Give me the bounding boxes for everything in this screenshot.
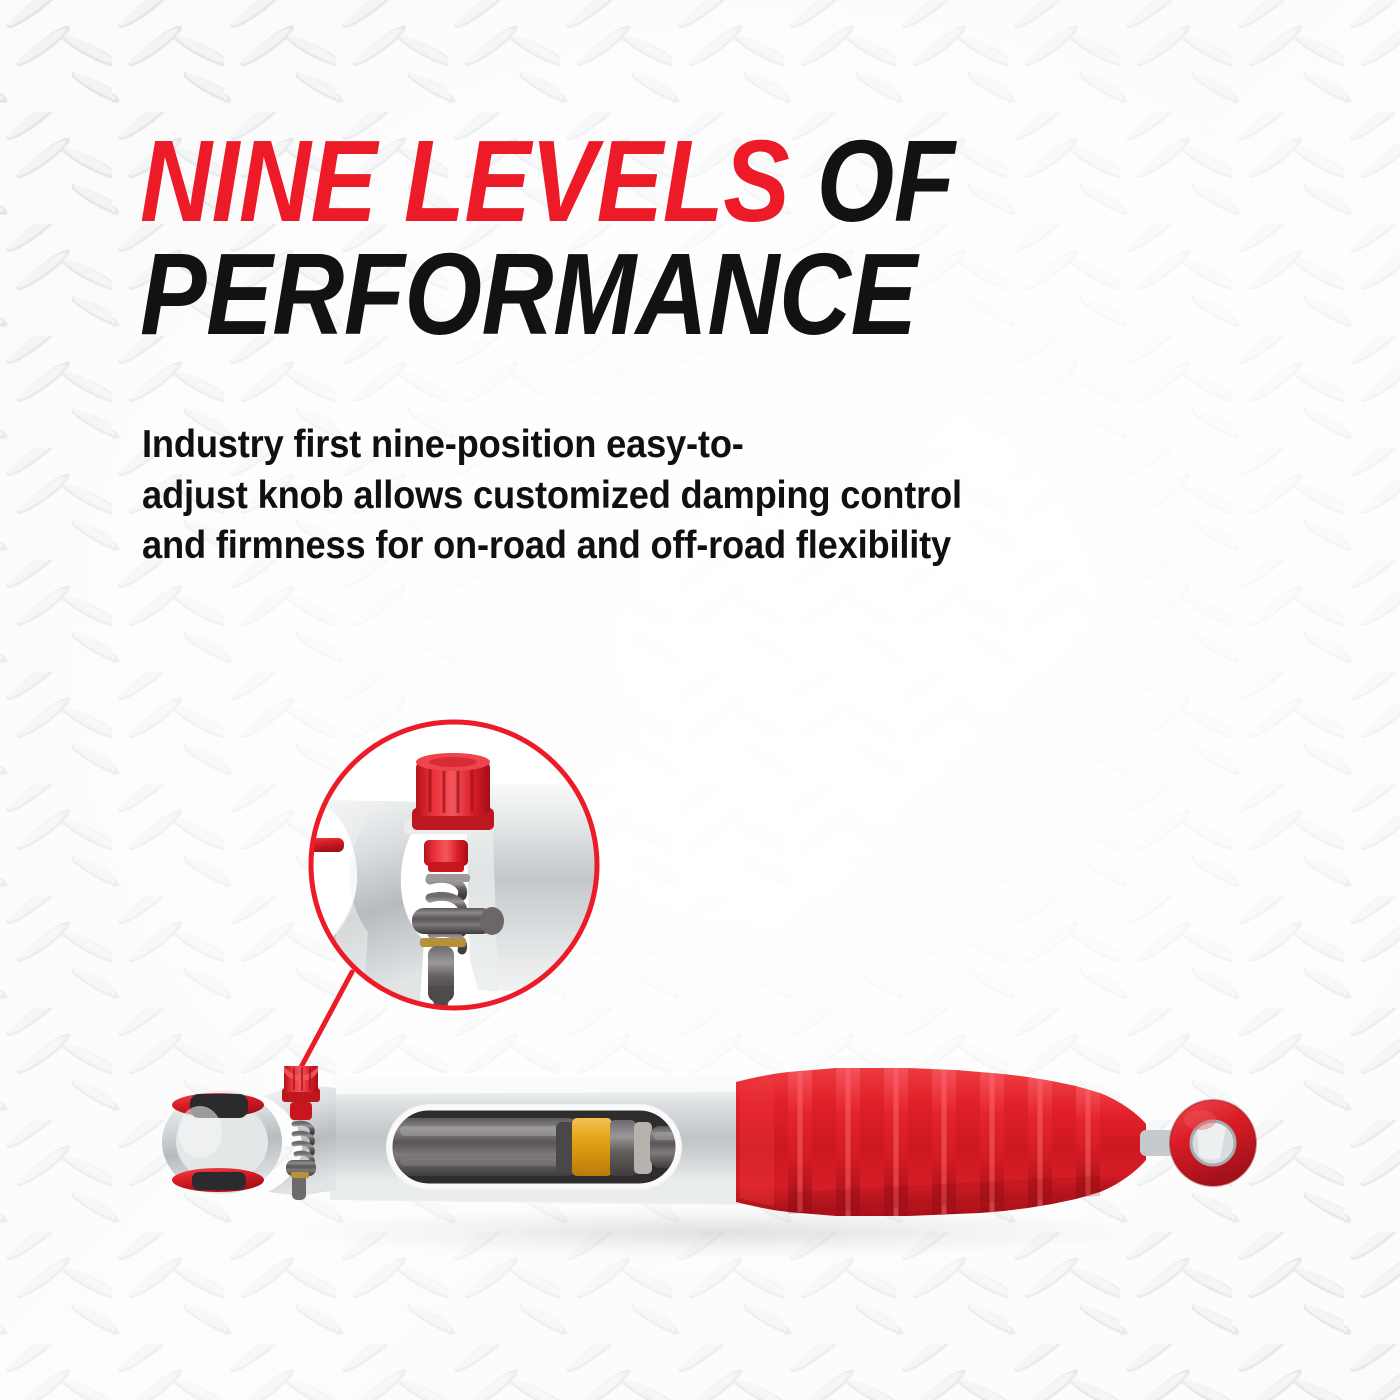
body-copy-line-3: and firmness for on-road and off-road fl… <box>142 521 1081 572</box>
body-copy: Industry first nine-position easy-to- ad… <box>142 420 1081 572</box>
headline-block: NINE LEVELS OF PERFORMANCE <box>140 128 1260 347</box>
product-feature-graphic: NINE LEVELS OF PERFORMANCE Industry firs… <box>0 0 1400 1400</box>
body-copy-line-2: adjust knob allows customized damping co… <box>142 471 1081 522</box>
body-copy-line-1: Industry first nine-position easy-to- <box>142 420 1081 471</box>
headline-line-1: NINE LEVELS OF <box>140 128 1103 235</box>
headline-line-1-suffix: OF <box>789 116 954 246</box>
headline-line-2: PERFORMANCE <box>140 241 1103 348</box>
headline-accent-text: NINE LEVELS <box>140 116 789 246</box>
